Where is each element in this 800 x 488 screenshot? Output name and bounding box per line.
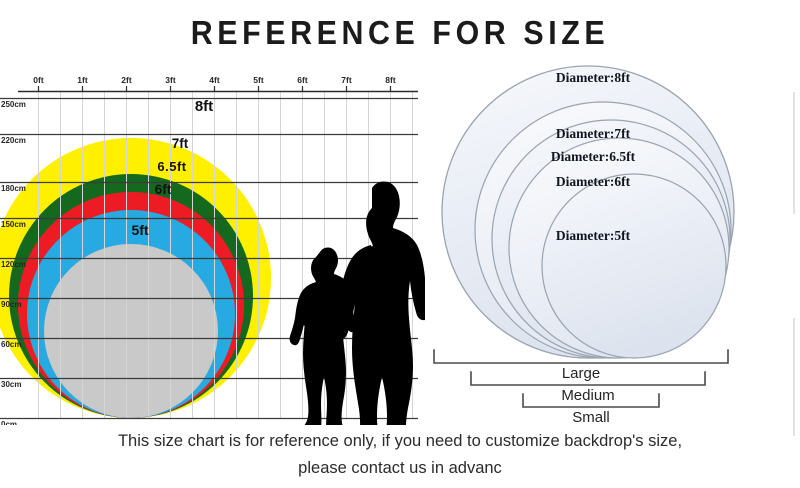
footer-caption: This size chart is for reference only, i… <box>0 428 800 482</box>
y-tick-30cm: 30cm <box>1 380 21 389</box>
bracket-label-small: Small <box>572 409 610 426</box>
disc-5ft <box>542 174 726 358</box>
ring-5ft <box>44 244 218 418</box>
y-tick-250cm: 250cm <box>1 100 26 109</box>
ring-label-6ft: 6ft <box>155 182 172 197</box>
disc-label-6ft: Diameter:6ft <box>556 174 631 189</box>
ring-label-7ft: 7ft <box>172 136 189 151</box>
x-tick-5ft: 5ft <box>253 75 264 85</box>
edge-hairline-top <box>793 92 795 214</box>
y-tick-180cm: 180cm <box>1 184 26 193</box>
x-tick-0ft: 0ft <box>33 75 44 85</box>
caption-line-1: This size chart is for reference only, i… <box>0 428 800 455</box>
x-tick-4ft: 4ft <box>209 75 220 85</box>
bracket-labels: Large Medium Small <box>561 365 614 426</box>
ring-group <box>0 138 271 418</box>
ring-label-5ft: 5ft <box>131 222 148 238</box>
y-tick-60cm: 60cm <box>1 340 21 349</box>
disc-label-5ft: Diameter:5ft <box>556 228 631 243</box>
page-title: REFERENCE FOR SIZE <box>32 14 768 52</box>
x-axis-tick-labels: 0ft 1ft 2ft 3ft 4ft 5ft 6ft 7ft 8ft <box>33 75 396 85</box>
disc-diagram-svg: Diameter:8ft Diameter:7ft Diameter:6.5ft… <box>425 58 800 430</box>
disc-label-6.5ft: Diameter:6.5ft <box>551 149 636 164</box>
y-axis-tick-labels: 250cm 220cm 180cm 150cm 120cm 90cm 60cm … <box>1 100 26 425</box>
height-chart-svg: 0ft 1ft 2ft 3ft 4ft 5ft 6ft 7ft 8ft 250c… <box>0 70 425 425</box>
disc-label-7ft: Diameter:7ft <box>556 126 631 141</box>
caption-line-2: please contact us in advanc <box>0 455 800 482</box>
x-tick-1ft: 1ft <box>77 75 88 85</box>
y-tick-90cm: 90cm <box>1 300 21 309</box>
bracket-label-large: Large <box>562 365 600 382</box>
x-tick-8ft: 8ft <box>385 75 396 85</box>
x-tick-7ft: 7ft <box>341 75 352 85</box>
y-tick-120cm: 120cm <box>1 260 26 269</box>
disc-label-8ft: Diameter:8ft <box>556 70 631 85</box>
y-tick-220cm: 220cm <box>1 136 26 145</box>
x-tick-6ft: 6ft <box>297 75 308 85</box>
x-tick-3ft: 3ft <box>165 75 176 85</box>
ring-label-8ft: 8ft <box>195 98 213 115</box>
x-axis-ticks <box>39 86 391 92</box>
bracket-label-medium: Medium <box>561 387 614 404</box>
y-tick-0cm: 0cm <box>1 420 17 425</box>
ring-label-6.5ft: 6.5ft <box>157 159 186 174</box>
height-reference-chart: 0ft 1ft 2ft 3ft 4ft 5ft 6ft 7ft 8ft 250c… <box>0 70 425 425</box>
x-tick-2ft: 2ft <box>121 75 132 85</box>
edge-hairline-bottom <box>793 318 795 436</box>
disc-group <box>442 66 734 358</box>
y-tick-150cm: 150cm <box>1 220 26 229</box>
disc-size-diagram: Diameter:8ft Diameter:7ft Diameter:6.5ft… <box>425 58 800 430</box>
